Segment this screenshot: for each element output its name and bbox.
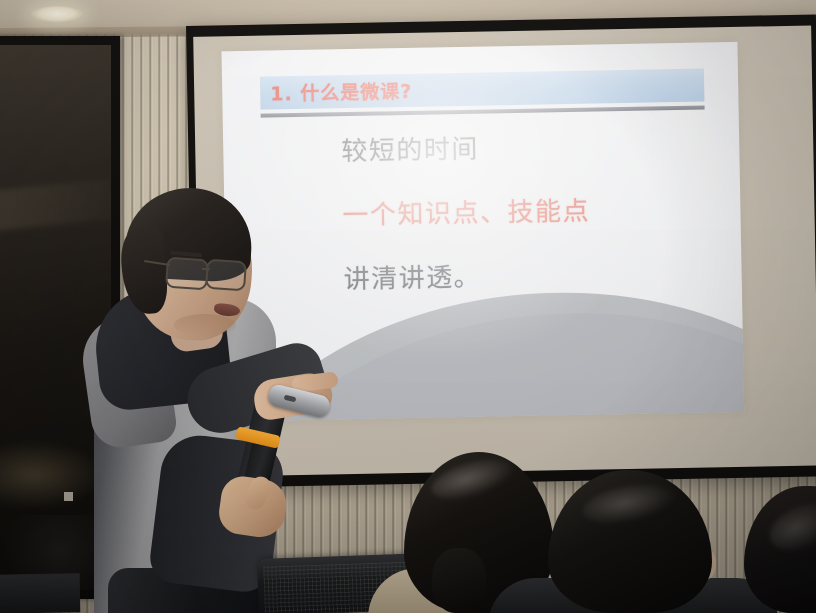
lecture-room-photo: 1. 什么是微课? 较短的时间 一个知识点、技能点 讲清讲透。 — [0, 0, 816, 613]
eyeglasses-bridge — [202, 268, 210, 270]
desk-edge — [0, 573, 80, 613]
eyeglasses-icon — [205, 259, 247, 292]
slide-line-3: 讲清讲透。 — [343, 260, 743, 293]
slide-body: 较短的时间 一个知识点、技能点 讲清讲透。 — [341, 132, 744, 331]
slide-line-2: 一个知识点、技能点 — [342, 196, 742, 229]
slide-line-1: 较短的时间 — [341, 132, 741, 165]
presenter — [78, 188, 348, 613]
audience-member-left-ponytail — [432, 548, 486, 613]
eyeglasses-icon — [165, 257, 209, 291]
slide-title: 1. 什么是微课? — [270, 77, 413, 107]
display-logo — [64, 492, 73, 501]
presenter-chin-shadow — [174, 314, 236, 336]
ceiling-light-icon — [30, 6, 84, 23]
slide-title-band: 1. 什么是微课? — [260, 69, 705, 110]
